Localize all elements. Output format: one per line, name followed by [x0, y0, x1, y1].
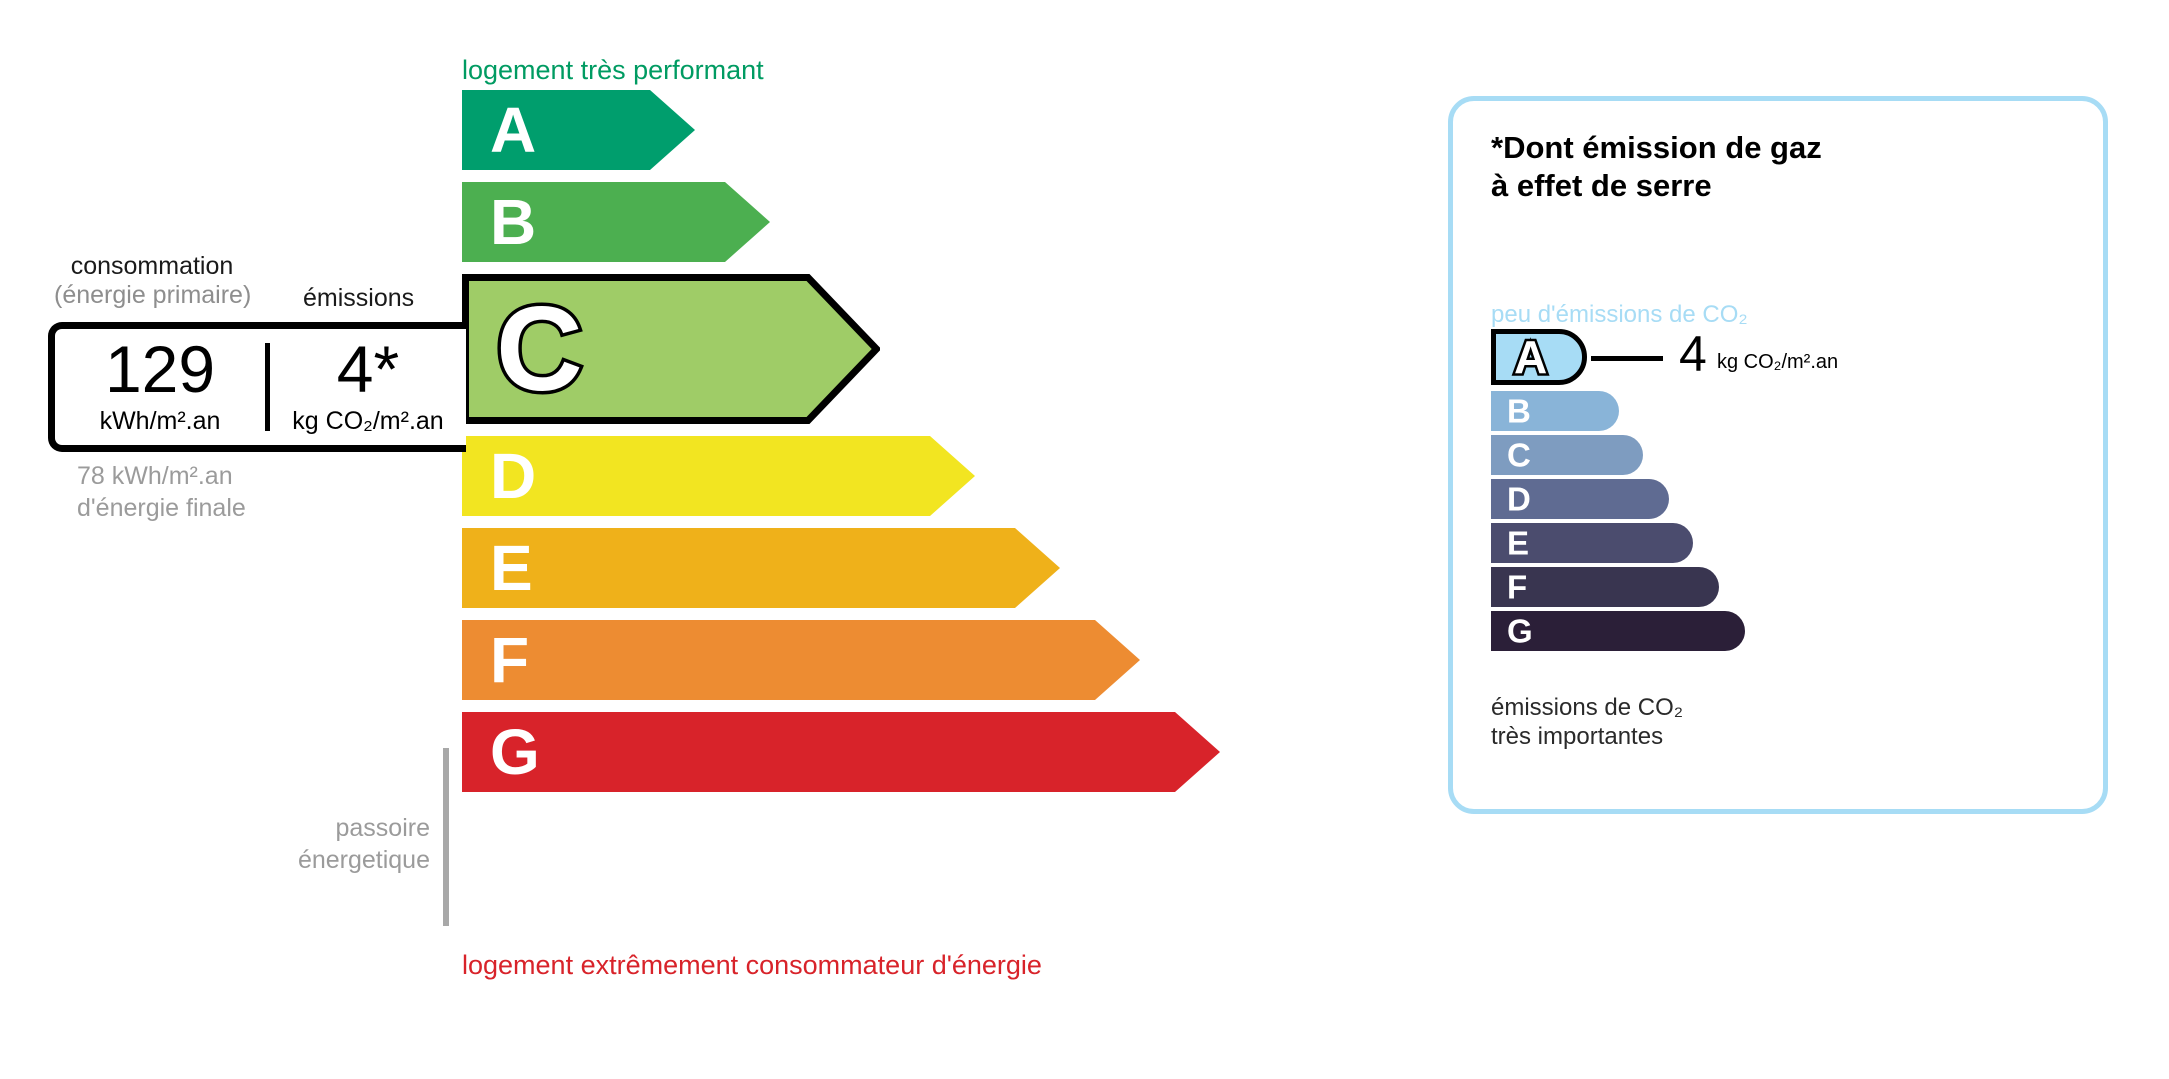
co2-bar-g: G — [1491, 611, 1745, 651]
co2-letter-b: B — [1507, 395, 1531, 428]
energy-bar-row-c: C — [462, 274, 1362, 424]
energy-bar-list: ABCDEFG — [462, 90, 1362, 804]
co2-bar-e: E — [1491, 523, 1693, 563]
consumption-header-label: consommation — [71, 252, 234, 280]
energy-letter-c: C — [496, 289, 583, 409]
co2-bar-f: F — [1491, 567, 1719, 607]
co2-letter-c: C — [1507, 439, 1531, 472]
consumption-unit: kWh/m².an — [100, 407, 221, 436]
co2-bar-d: D — [1491, 479, 1669, 519]
co2-bar-row-e: E — [1491, 523, 2071, 563]
passoire-label: passoire énergetique — [230, 812, 430, 876]
energy-letter-d: D — [490, 444, 536, 508]
energy-performance-panel: logement très performant ABCDEFG logemen… — [0, 0, 1400, 1079]
energy-arrow-b: B — [462, 182, 770, 262]
energy-letter-b: B — [490, 190, 536, 254]
co2-bar-row-f: F — [1491, 567, 2071, 607]
consumption-value: 129 — [105, 338, 215, 401]
consumption-header: consommation (énergie primaire) — [54, 252, 250, 310]
co2-bar-row-d: D — [1491, 479, 2071, 519]
co2-letter-d: D — [1507, 483, 1531, 516]
co2-value: 4 — [1679, 329, 1707, 379]
co2-letter-e: E — [1507, 527, 1529, 560]
co2-panel-title: *Dont émission de gaz à effet de serre — [1491, 129, 1822, 205]
co2-bar-list: ABCDEFG — [1491, 329, 2071, 655]
energy-letter-a: A — [490, 98, 536, 162]
co2-leader-line — [1591, 356, 1663, 361]
emissions-value: 4* — [337, 338, 399, 401]
value-box: 129 kWh/m².an 4* kg CO₂/m².an — [48, 322, 466, 452]
energy-arrow-d: D — [462, 436, 975, 516]
co2-bottom-caption: émissions de CO₂ très importantes — [1491, 693, 1683, 752]
energy-arrow-f: F — [462, 620, 1140, 700]
co2-bar-row-g: G — [1491, 611, 2071, 651]
co2-letter-a: A — [1514, 334, 1547, 380]
energy-bottom-caption: logement extrêmement consommateur d'éner… — [462, 950, 1042, 981]
co2-panel: *Dont émission de gaz à effet de serre p… — [1448, 96, 2108, 814]
energy-arrow-a: A — [462, 90, 695, 170]
energy-arrow-c: C — [462, 274, 880, 424]
energy-arrow-e: E — [462, 528, 1060, 608]
emissions-unit: kg CO₂/m².an — [292, 407, 443, 436]
energy-arrow-g: G — [462, 712, 1220, 792]
co2-bar-a: A — [1491, 329, 1587, 385]
energy-letter-f: F — [490, 628, 529, 692]
passoire-bracket-line — [443, 748, 449, 926]
emissions-header: émissions — [303, 284, 414, 313]
energy-bar-row-g: G — [462, 712, 1362, 792]
co2-top-caption: peu d'émissions de CO₂ — [1491, 301, 1748, 329]
co2-bar-row-b: B — [1491, 391, 2071, 431]
energy-top-caption: logement très performant — [462, 55, 764, 86]
consumption-value-cell: 129 kWh/m².an — [55, 329, 265, 445]
co2-bar-c: C — [1491, 435, 1643, 475]
energy-bar-row-b: B — [462, 182, 1362, 262]
final-energy-note: 78 kWh/m².an d'énergie finale — [77, 460, 246, 524]
energy-letter-e: E — [490, 536, 533, 600]
dpe-label: logement très performant ABCDEFG logemen… — [0, 0, 2169, 1079]
energy-bar-row-e: E — [462, 528, 1362, 608]
energy-bar-row-f: F — [462, 620, 1362, 700]
co2-value-unit: kg CO₂/m².an — [1717, 351, 1838, 374]
energy-letter-g: G — [490, 720, 540, 784]
energy-bar-row-a: A — [462, 90, 1362, 170]
consumption-header-sublabel: (énergie primaire) — [54, 281, 250, 310]
emissions-value-cell: 4* kg CO₂/m².an — [270, 329, 466, 445]
energy-bar-row-d: D — [462, 436, 1362, 516]
co2-letter-g: G — [1507, 615, 1533, 648]
co2-bar-b: B — [1491, 391, 1619, 431]
co2-bar-row-c: C — [1491, 435, 2071, 475]
co2-letter-f: F — [1507, 571, 1527, 604]
